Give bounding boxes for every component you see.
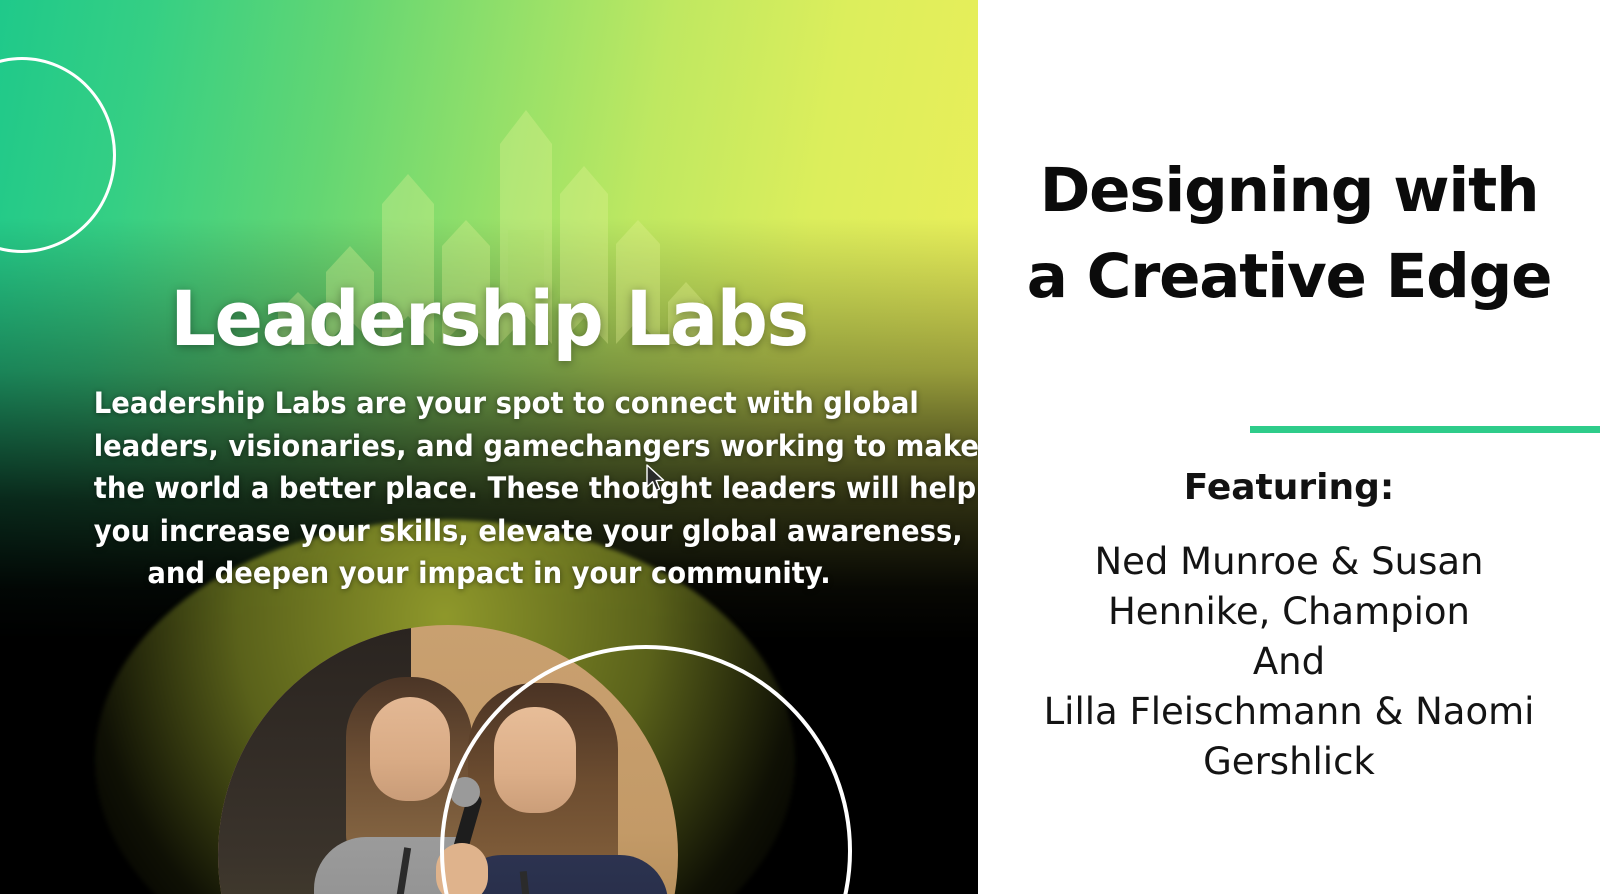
slide-heading: Leadership Labs xyxy=(29,277,948,361)
presenter-line: Lilla Fleischmann & Naomi xyxy=(996,687,1582,737)
slide-body-line: and deepen your impact in your community… xyxy=(94,552,885,595)
slide-body-text: Leadership Labs are your spot to connect… xyxy=(94,382,885,595)
presenter-list: Ned Munroe & Susan Hennike, Champion And… xyxy=(996,537,1582,787)
session-title-line: a Creative Edge xyxy=(978,234,1600,320)
session-info-panel: Designing with a Creative Edge Featuring… xyxy=(978,0,1600,894)
slide-body-line: leaders, visionaries, and gamechangers w… xyxy=(94,425,885,468)
slide-body-line: Leadership Labs are your spot to connect… xyxy=(94,382,885,425)
featuring-label: Featuring: xyxy=(978,465,1600,511)
slide-body-line: you increase your skills, elevate your g… xyxy=(94,510,885,553)
presenter-line: Hennike, Champion xyxy=(996,587,1582,637)
session-title: Designing with a Creative Edge xyxy=(978,148,1600,320)
presenter-line: And xyxy=(996,637,1582,687)
shared-slide-panel[interactable]: Leadership Labs Leadership Labs are your… xyxy=(0,0,978,894)
presenter-line: Gershlick xyxy=(996,737,1582,787)
slide-body-line: the world a better place. These thought … xyxy=(94,467,885,510)
presenter-line: Ned Munroe & Susan xyxy=(996,537,1582,587)
presentation-screen: Leadership Labs Leadership Labs are your… xyxy=(0,0,1600,894)
accent-divider-rule xyxy=(1250,426,1600,433)
session-title-line: Designing with xyxy=(978,148,1600,234)
